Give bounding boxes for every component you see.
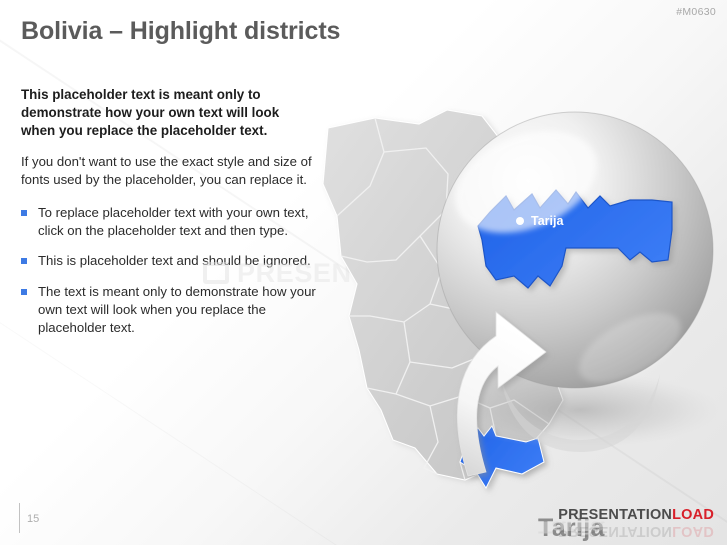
sub-paragraph: If you don't want to use the exact style… bbox=[21, 153, 317, 188]
footer-divider bbox=[19, 503, 20, 533]
page-title: Bolivia – Highlight districts bbox=[21, 17, 340, 46]
bolivia-map-svg[interactable] bbox=[300, 90, 727, 500]
text-content-column: This placeholder text is meant only to d… bbox=[21, 86, 317, 350]
lead-paragraph: This placeholder text is meant only to d… bbox=[21, 86, 317, 139]
brand-logo-reflection: PRESENTATIONLOAD bbox=[558, 523, 714, 539]
brand-primary-text: PRESENTATION bbox=[558, 507, 672, 523]
document-code: #M0630 bbox=[676, 6, 716, 18]
bullet-list: To replace placeholder text with your ow… bbox=[21, 204, 317, 338]
slide: Bolivia – Highlight districts #M0630 Thi… bbox=[0, 0, 727, 545]
list-item-text: To replace placeholder text with your ow… bbox=[38, 205, 308, 238]
brand-logo: PRESENTATIONLOAD bbox=[558, 507, 714, 523]
square-bullet-icon bbox=[21, 258, 27, 264]
list-item-text: The text is meant only to demonstrate ho… bbox=[38, 284, 316, 335]
list-item: This is placeholder text and should be i… bbox=[21, 252, 317, 270]
bolivia-map[interactable]: Tarija Tarija Tarija bbox=[300, 90, 727, 500]
list-item: The text is meant only to demonstrate ho… bbox=[21, 283, 317, 337]
square-bullet-icon bbox=[21, 289, 27, 295]
page-number: 15 bbox=[27, 513, 39, 525]
square-bullet-icon bbox=[21, 210, 27, 216]
brand-accent-text: LOAD bbox=[672, 507, 714, 523]
brand-primary-reflection: PRESENTATION bbox=[558, 523, 672, 539]
brand-accent-reflection: LOAD bbox=[672, 523, 714, 539]
list-item: To replace placeholder text with your ow… bbox=[21, 204, 317, 240]
list-item-text: This is placeholder text and should be i… bbox=[38, 253, 311, 268]
